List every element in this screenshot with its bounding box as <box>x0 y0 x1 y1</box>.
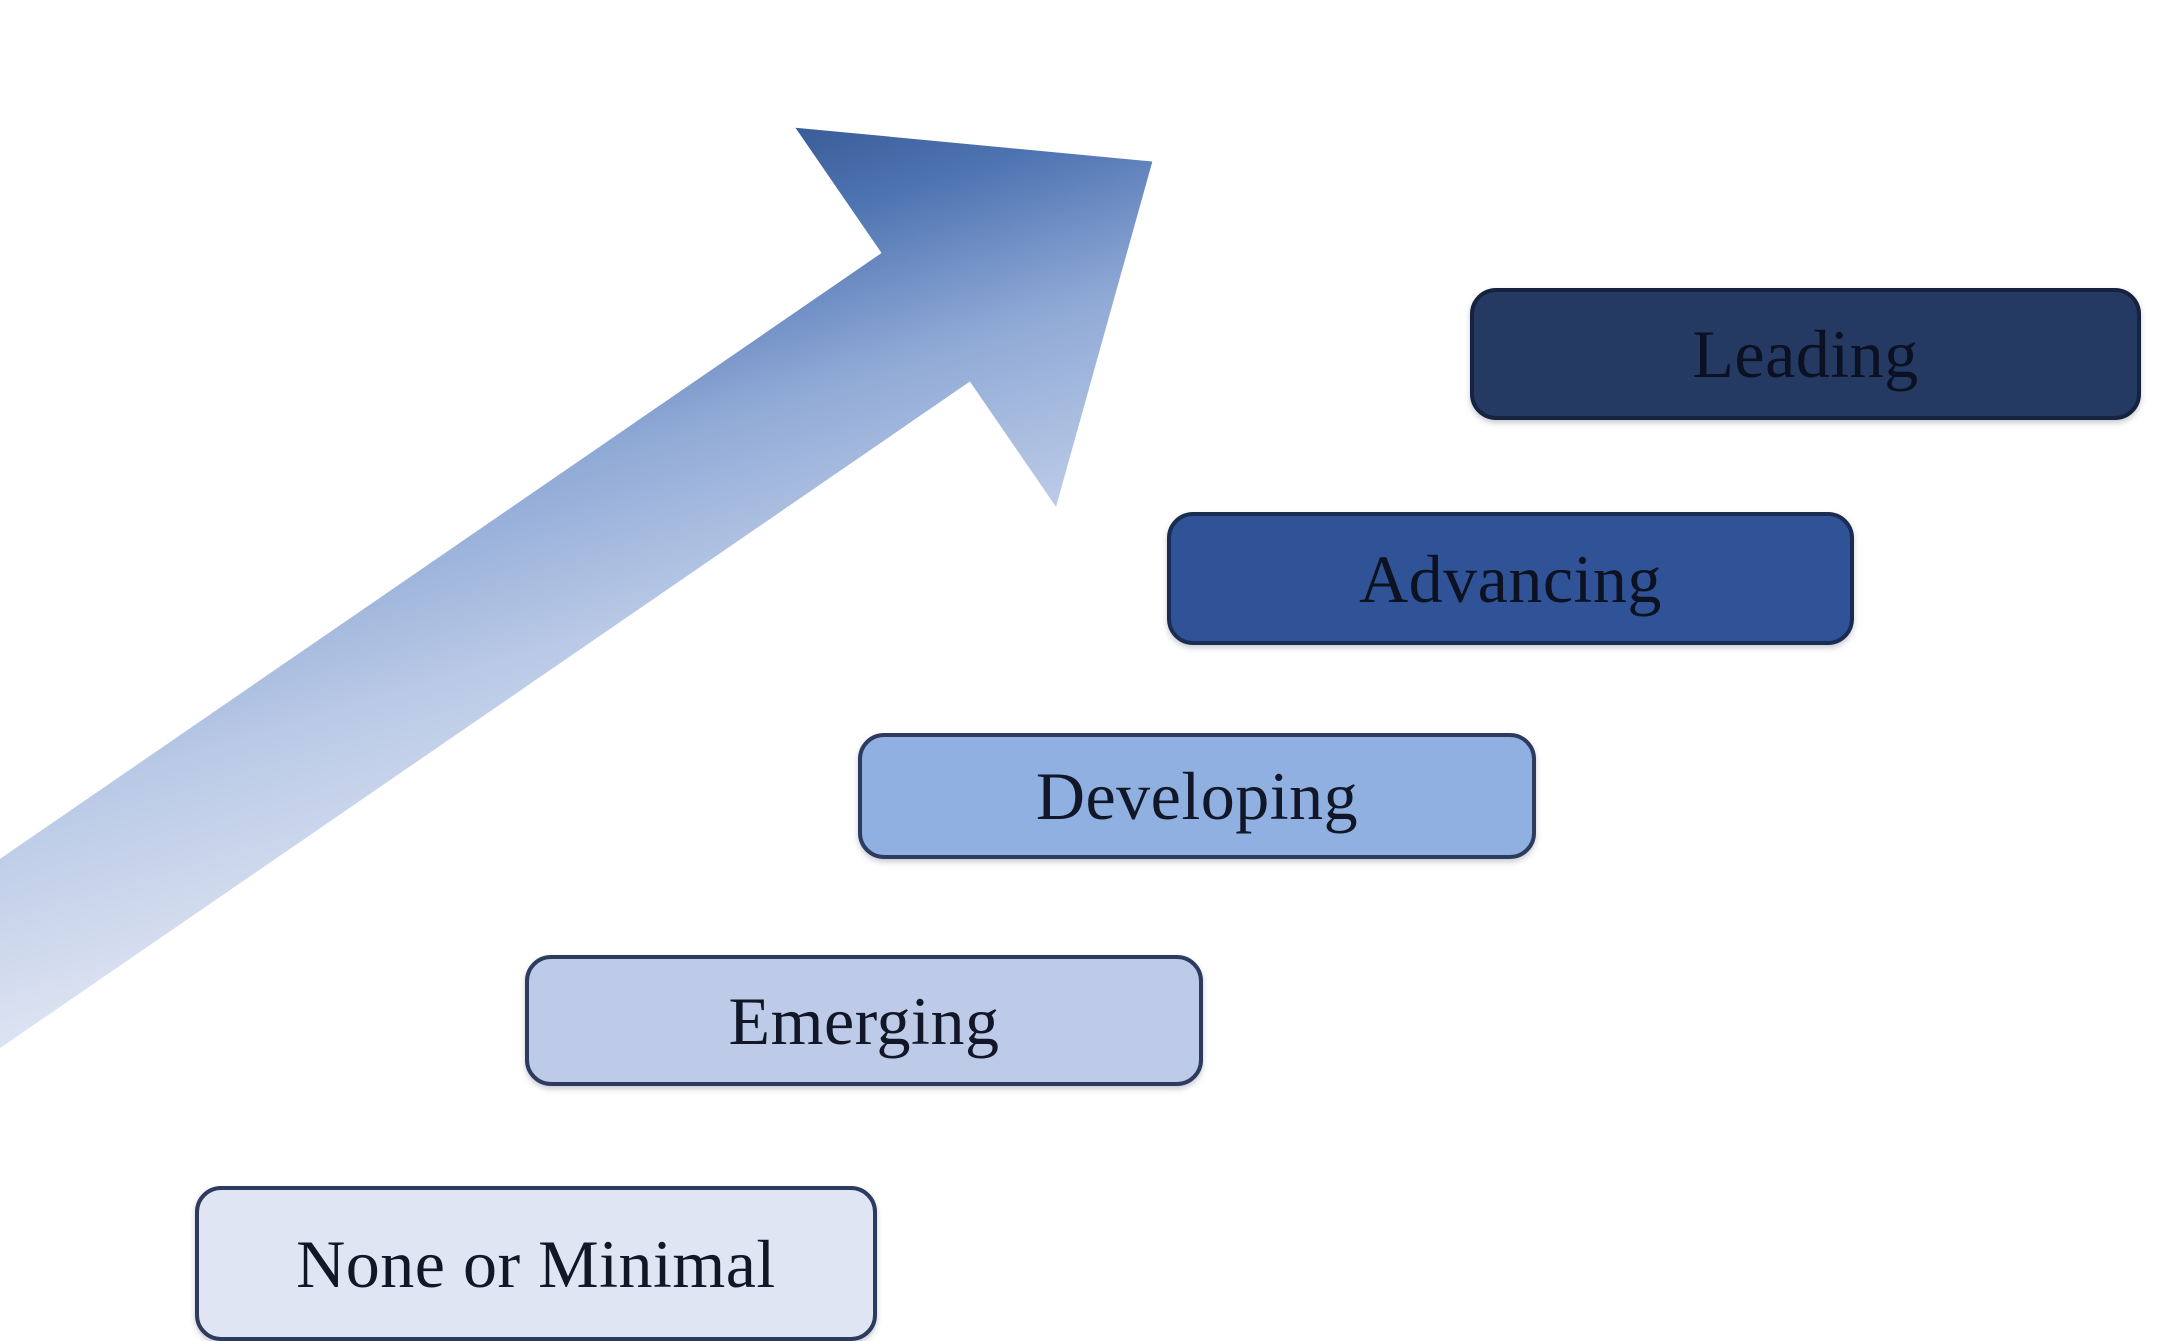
stage-box-leading[interactable]: Leading <box>1470 288 2141 420</box>
upward-progress-arrow <box>0 0 2164 1341</box>
diagram-canvas: None or Minimal Emerging Developing Adva… <box>0 0 2164 1341</box>
stage-box-none-or-minimal[interactable]: None or Minimal <box>195 1186 877 1341</box>
stage-label-none-or-minimal: None or Minimal <box>296 1230 776 1298</box>
stage-box-advancing[interactable]: Advancing <box>1167 512 1854 645</box>
stage-label-emerging: Emerging <box>729 987 1000 1055</box>
stage-label-leading: Leading <box>1692 320 1918 388</box>
stage-label-advancing: Advancing <box>1359 545 1662 613</box>
stage-box-emerging[interactable]: Emerging <box>525 955 1203 1086</box>
stage-box-developing[interactable]: Developing <box>858 733 1536 859</box>
stage-label-developing: Developing <box>1036 762 1358 830</box>
